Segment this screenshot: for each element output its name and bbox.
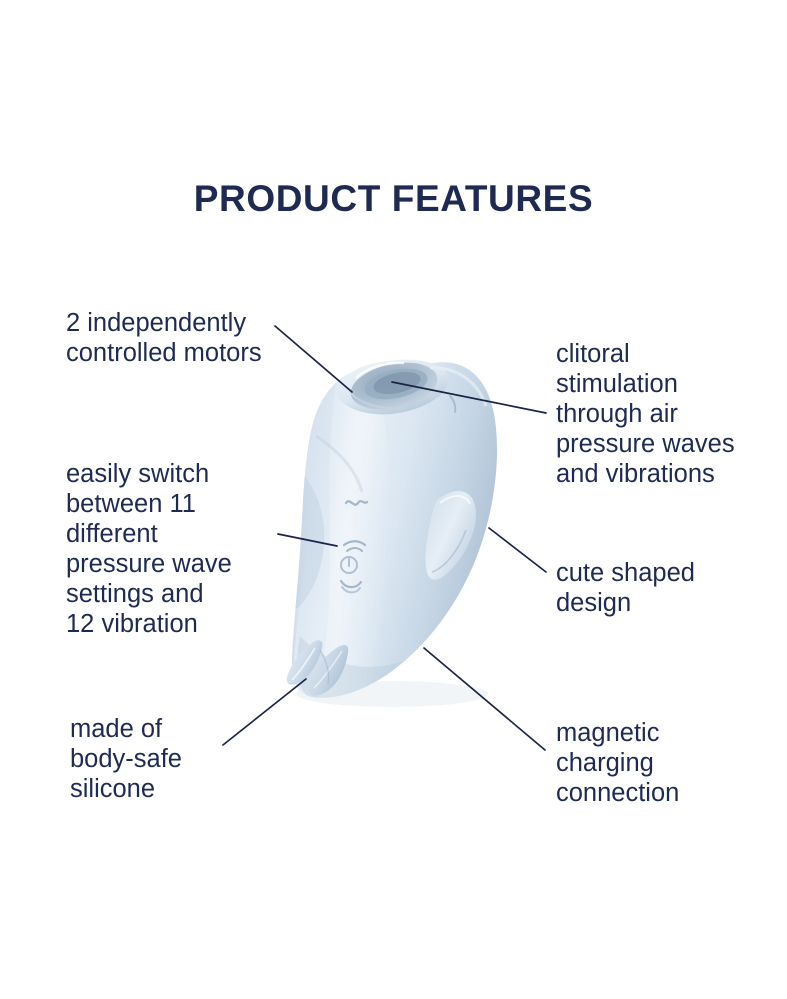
product-features-infographic: PRODUCT FEATURES [0,0,787,999]
leader-cute [489,528,546,572]
leader-silicone [223,679,306,745]
leader-lines [0,0,787,999]
leader-magnetic [424,648,545,750]
leader-motors [275,326,352,392]
leader-clitoral [392,382,546,413]
leader-settings [278,534,337,546]
